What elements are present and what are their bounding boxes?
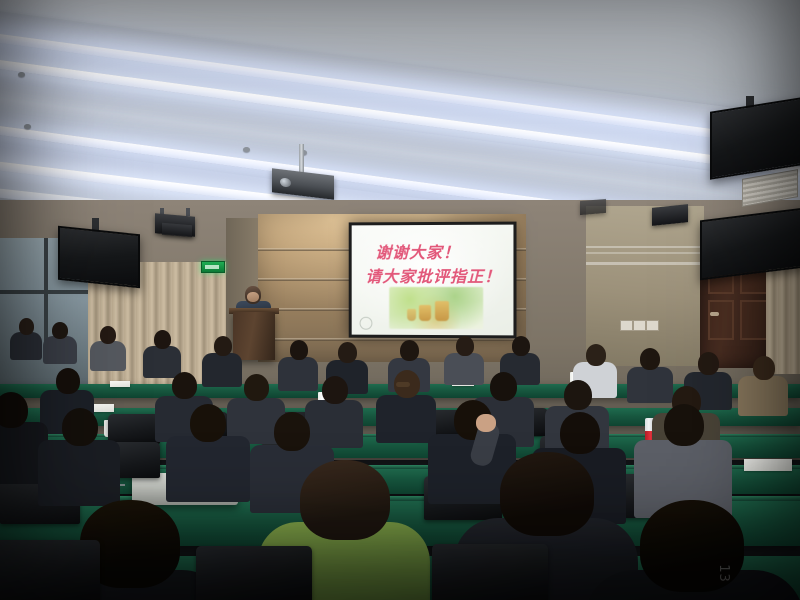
- person-head: [456, 336, 474, 356]
- person-body: [143, 346, 181, 378]
- person-head: [56, 368, 80, 394]
- artwork-jar: [435, 301, 449, 321]
- person-head: [490, 372, 517, 401]
- slide-artwork-image: [389, 287, 483, 329]
- person-body: [305, 400, 363, 448]
- person-body: [627, 367, 673, 403]
- speaking-podium: [233, 312, 275, 360]
- ceiling-speaker: [652, 204, 688, 226]
- person-head: [512, 336, 530, 356]
- person-body: [10, 332, 42, 360]
- chair: [196, 546, 312, 600]
- person-body: [38, 440, 120, 506]
- person-head: [640, 348, 660, 370]
- slide-heading-line-1: 谢谢大家！: [375, 239, 460, 263]
- raised-fist: [476, 414, 496, 432]
- person-head: [154, 330, 171, 349]
- person-head: [52, 322, 68, 339]
- door-panel: [740, 300, 768, 340]
- person-body: [738, 376, 788, 416]
- person-body: [166, 436, 250, 502]
- person-body: [202, 353, 242, 387]
- wall-trim-line: [586, 262, 704, 265]
- ceiling-fixture-dot: [243, 147, 250, 152]
- door-panel: [708, 300, 734, 340]
- ceiling-speaker: [580, 199, 606, 215]
- wall-monitor: [710, 96, 800, 180]
- person-head: [19, 318, 34, 335]
- wall-trim-line: [586, 246, 704, 248]
- person-body: [376, 395, 436, 443]
- person-head: [500, 452, 594, 536]
- person-head: [322, 376, 348, 404]
- person-head: [564, 380, 592, 410]
- window-mullion: [0, 290, 92, 294]
- projection-screen-frame: 谢谢大家！ 请大家批评指正！: [349, 222, 517, 339]
- power-outlet[interactable]: [620, 320, 633, 331]
- projection-screen: 谢谢大家！ 请大家批评指正！: [352, 225, 514, 336]
- person-head: [586, 344, 606, 366]
- chair-number-label: 13: [716, 564, 731, 583]
- chair: [432, 544, 548, 600]
- conference-hall-photo: 谢谢大家！ 请大家批评指正！: [0, 0, 800, 600]
- person-head: [300, 460, 390, 540]
- wall-trim-line: [586, 252, 704, 254]
- person-head: [560, 412, 600, 454]
- emergency-exit-sign: [201, 261, 225, 273]
- person-body: [43, 336, 77, 364]
- person-body: [90, 341, 126, 371]
- person-head: [0, 392, 28, 428]
- artwork-jar: [407, 309, 416, 321]
- chair: [0, 540, 100, 600]
- person-body: [444, 353, 484, 385]
- person-head: [100, 326, 116, 344]
- ceiling-fixture-dot: [24, 124, 31, 129]
- ceiling-fixture-dot: [18, 72, 25, 77]
- person-head: [244, 374, 269, 401]
- wall-monitor: [58, 226, 140, 289]
- paper-sheet: [110, 381, 130, 387]
- presenter-face: [247, 292, 259, 302]
- ceiling-speaker: [162, 223, 192, 238]
- person-head: [274, 412, 310, 451]
- person-head: [753, 356, 775, 380]
- person-head: [400, 340, 419, 361]
- paper-sheet: [744, 459, 792, 471]
- person-body: [278, 357, 318, 391]
- door-handle[interactable]: [710, 312, 719, 316]
- person-head: [664, 404, 704, 446]
- person-head: [172, 372, 197, 399]
- person-head: [290, 340, 308, 360]
- artwork-jar: [419, 305, 431, 321]
- person-head: [214, 336, 232, 356]
- person-head: [190, 404, 226, 442]
- person-head: [62, 408, 98, 446]
- wall-monitor: [700, 208, 800, 281]
- chair: [108, 414, 160, 444]
- screen-corner-logo-icon: [360, 317, 373, 330]
- power-outlet[interactable]: [646, 320, 659, 331]
- hair-clip-icon: [396, 382, 410, 387]
- slide-heading-line-2: 请大家批评指正！: [365, 263, 501, 287]
- power-outlet[interactable]: [633, 320, 646, 331]
- speaker-bracket: [186, 208, 190, 216]
- right-wall: [586, 206, 704, 366]
- person-head: [338, 342, 357, 363]
- person-head: [698, 352, 719, 375]
